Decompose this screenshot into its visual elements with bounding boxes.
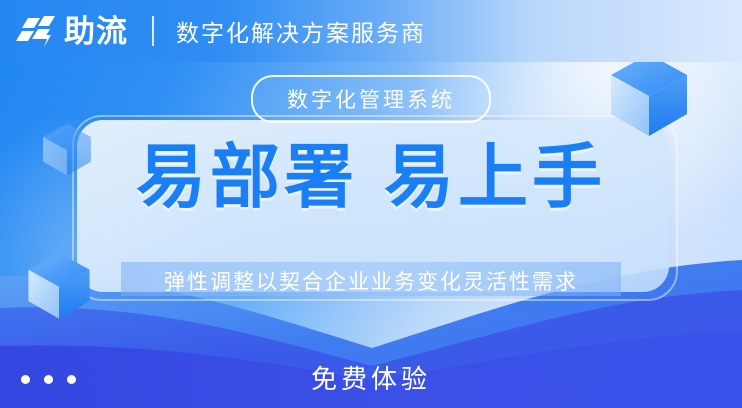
logo[interactable]: 助流 xyxy=(0,9,128,53)
dot-indicator[interactable] xyxy=(44,375,53,384)
page-title: 易部署易上手 xyxy=(0,142,742,212)
promo-banner: 助流 数字化解决方案服务商 数字化管理系统 易部署易上手 弹性调整以契合企业业务… xyxy=(0,0,742,408)
logo-text: 助流 xyxy=(64,16,128,47)
headline-part-2: 易上手 xyxy=(384,138,606,216)
headline-part-1: 易部署 xyxy=(136,138,358,216)
banner-header: 助流 数字化解决方案服务商 xyxy=(0,0,742,62)
lightning-bolt-logo-icon xyxy=(14,9,58,53)
free-trial-cta[interactable]: 免费体验 xyxy=(0,359,742,396)
status-badge: 数字化管理系统 xyxy=(251,75,491,123)
header-divider xyxy=(152,16,154,46)
header-tagline: 数字化解决方案服务商 xyxy=(176,14,426,48)
hero-subtitle: 弹性调整以契合企业业务变化灵活性需求 xyxy=(0,266,742,296)
dot-indicator[interactable] xyxy=(67,375,76,384)
dot-indicator[interactable] xyxy=(21,375,30,384)
dot-indicators xyxy=(21,375,76,384)
